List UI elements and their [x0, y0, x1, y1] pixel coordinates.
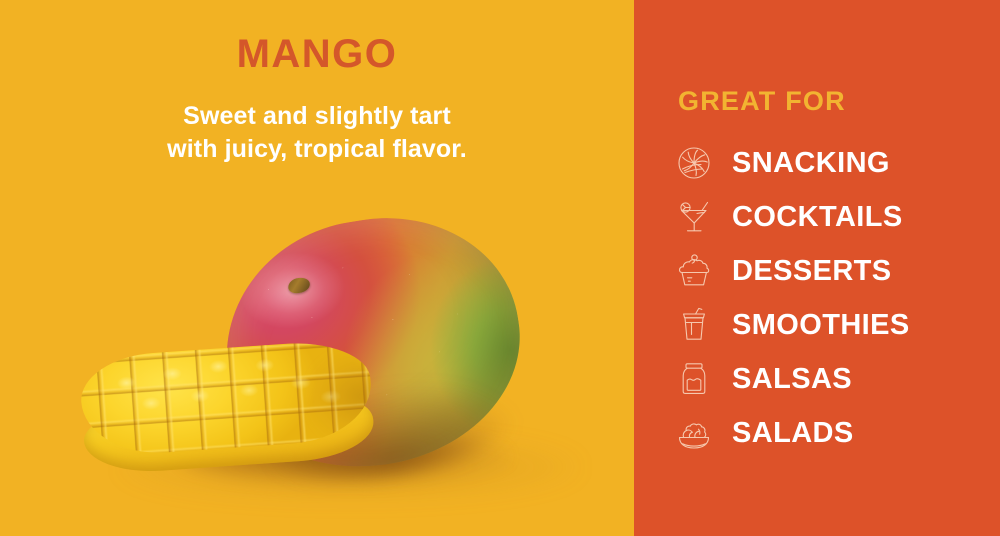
list-item-snacking: SNACKING	[670, 136, 1000, 190]
great-for-list: SNACKING COCK	[670, 136, 1000, 460]
list-item-label: SALADS	[732, 419, 854, 448]
mango-cut-flesh	[78, 338, 374, 458]
list-item-salsas: SALSAS	[670, 352, 1000, 406]
subtitle-line-2: with juicy, tropical flavor.	[0, 133, 634, 166]
cocktail-glass-icon	[670, 194, 718, 240]
great-for-heading: GREAT FOR	[678, 88, 846, 115]
list-item-label: SMOOTHIES	[732, 311, 910, 340]
mango-infographic-poster: MANGO Sweet and slightly tart with juicy…	[0, 0, 1000, 536]
list-item-label: SNACKING	[732, 149, 890, 178]
salad-bowl-icon	[670, 410, 718, 456]
subtitle-line-1: Sweet and slightly tart	[183, 102, 451, 130]
smoothie-cup-icon	[670, 302, 718, 348]
list-item-salads: SALADS	[670, 406, 1000, 460]
list-item-cocktails: COCKTAILS	[670, 190, 1000, 244]
salsa-jar-icon	[670, 356, 718, 402]
mango-photo	[60, 200, 580, 510]
page-title: MANGO	[0, 34, 634, 74]
list-item-smoothies: SMOOTHIES	[670, 298, 1000, 352]
list-item-label: COCKTAILS	[732, 203, 903, 232]
subtitle: Sweet and slightly tart with juicy, trop…	[0, 100, 634, 166]
list-item-label: DESSERTS	[732, 257, 892, 286]
list-item-label: SALSAS	[732, 365, 852, 394]
right-panel: GREAT FOR	[634, 0, 1000, 536]
cupcake-icon	[670, 248, 718, 294]
list-item-desserts: DESSERTS	[670, 244, 1000, 298]
hedgehog-cut-mango-half	[78, 338, 376, 476]
left-panel: MANGO Sweet and slightly tart with juicy…	[0, 0, 634, 536]
sliced-fruit-icon	[670, 140, 718, 186]
